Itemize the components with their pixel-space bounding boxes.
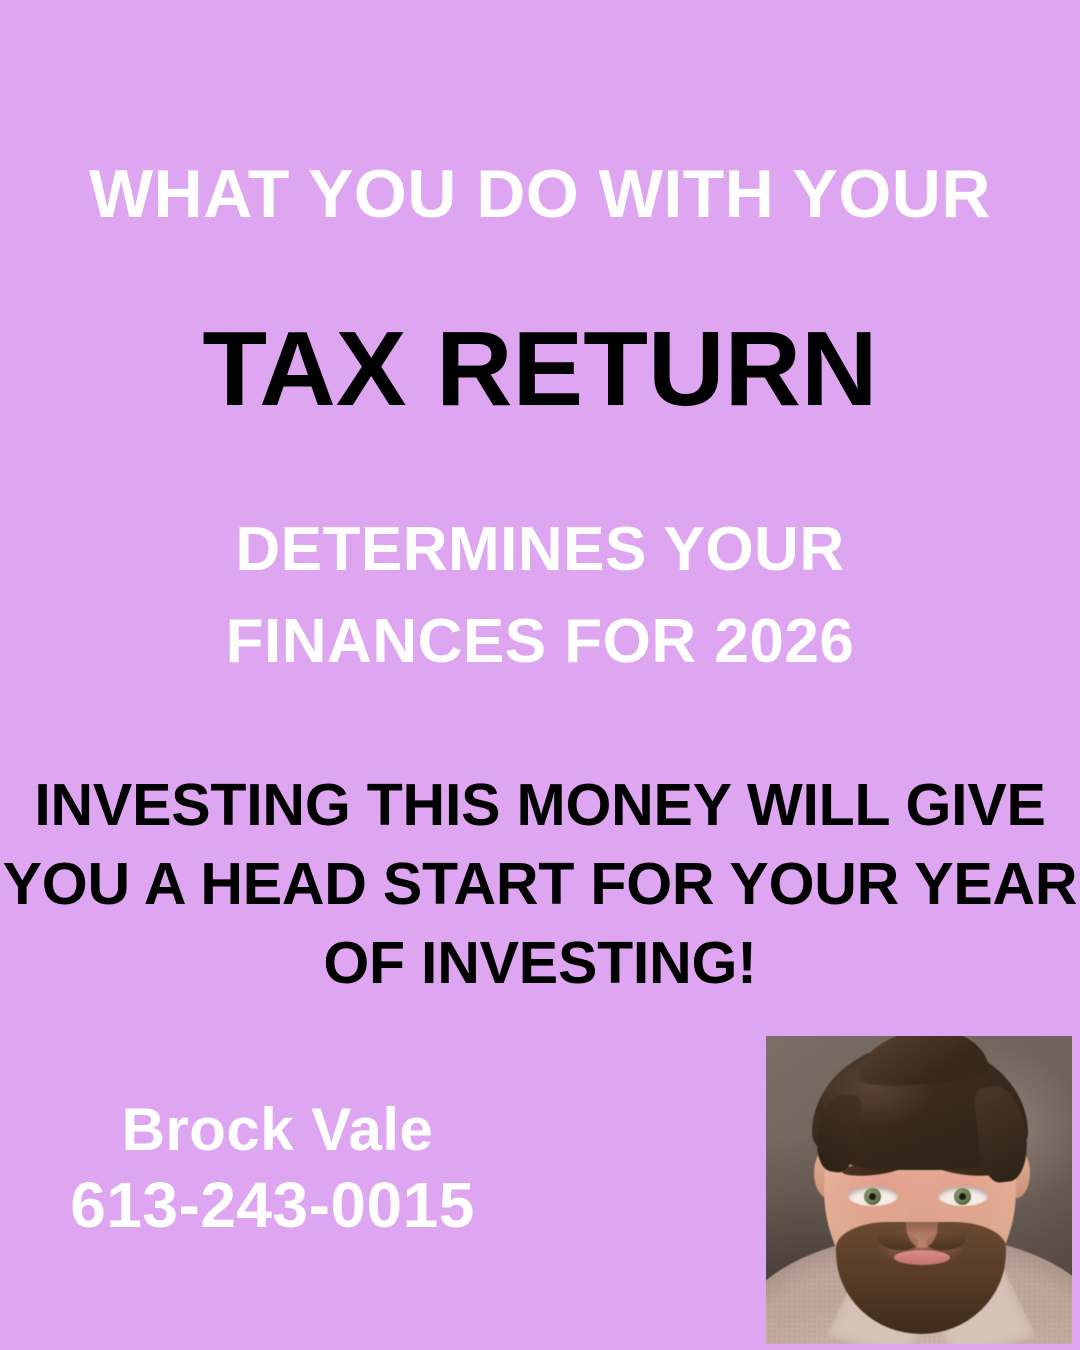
mouth	[894, 1250, 950, 1265]
promo-poster: WHAT YOU DO WITH YOUR TAX RETURN DETERMI…	[0, 0, 1080, 1350]
iris-right	[954, 1188, 971, 1205]
headline-top: WHAT YOU DO WITH YOUR	[0, 160, 1080, 228]
body-copy-line-1: INVESTING THIS MONEY WILL GIVE	[0, 766, 1080, 845]
body-copy-line-3: OF INVESTING!	[0, 924, 1080, 1003]
contact-phone: 613-243-0015	[0, 1166, 600, 1244]
nose	[906, 1200, 938, 1248]
headshot-photo	[766, 1036, 1072, 1344]
iris-left	[864, 1188, 881, 1205]
contact-block: Brock Vale 613-243-0015	[0, 1094, 600, 1244]
subhead-block: DETERMINES YOUR FINANCES FOR 2026	[0, 504, 1080, 688]
subhead-line-2: FINANCES FOR 2026	[0, 596, 1080, 688]
photo-background	[766, 1036, 1072, 1344]
contact-name: Brock Vale	[0, 1094, 600, 1166]
body-copy-line-2: YOU A HEAD START FOR YOUR YEAR	[0, 845, 1080, 924]
body-copy-block: INVESTING THIS MONEY WILL GIVE YOU A HEA…	[0, 766, 1080, 1003]
headline-main: TAX RETURN	[0, 316, 1080, 422]
subhead-line-1: DETERMINES YOUR	[0, 504, 1080, 596]
eye-left	[848, 1186, 898, 1206]
eye-right	[938, 1186, 988, 1206]
